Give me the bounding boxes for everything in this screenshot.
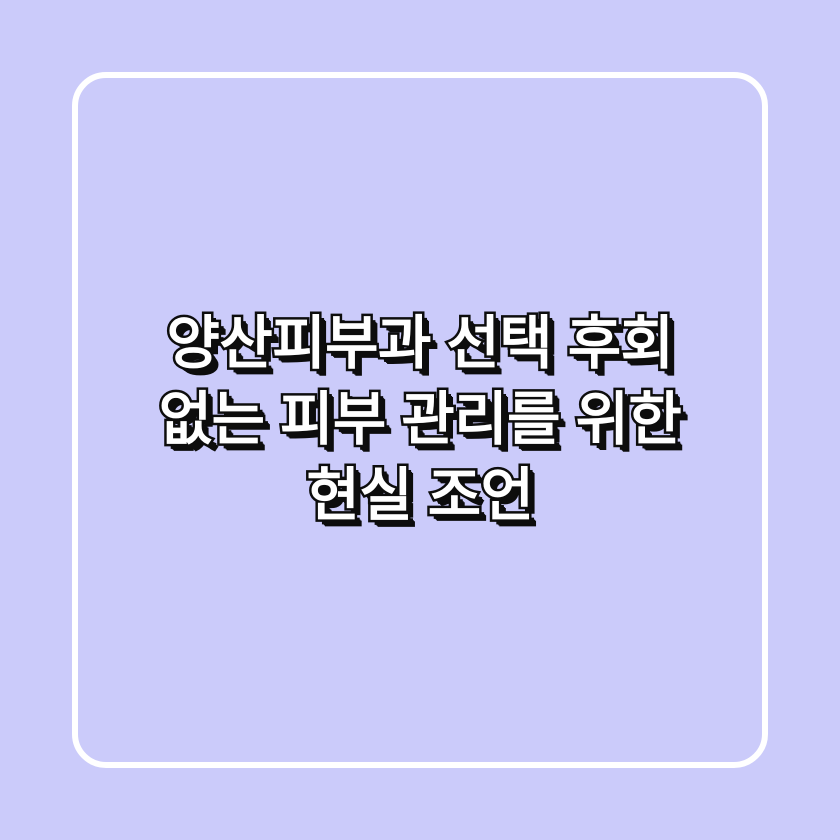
thumbnail-card: 양산피부과 선택 후회 없는 피부 관리를 위한 현실 조언 <box>0 0 840 840</box>
title-line-2: 없는 피부 관리를 위한 <box>100 382 740 458</box>
title-line-1: 양산피부과 선택 후회 <box>100 306 740 382</box>
page-title: 양산피부과 선택 후회 없는 피부 관리를 위한 현실 조언 <box>90 306 750 534</box>
title-line-3: 현실 조언 <box>100 458 740 534</box>
